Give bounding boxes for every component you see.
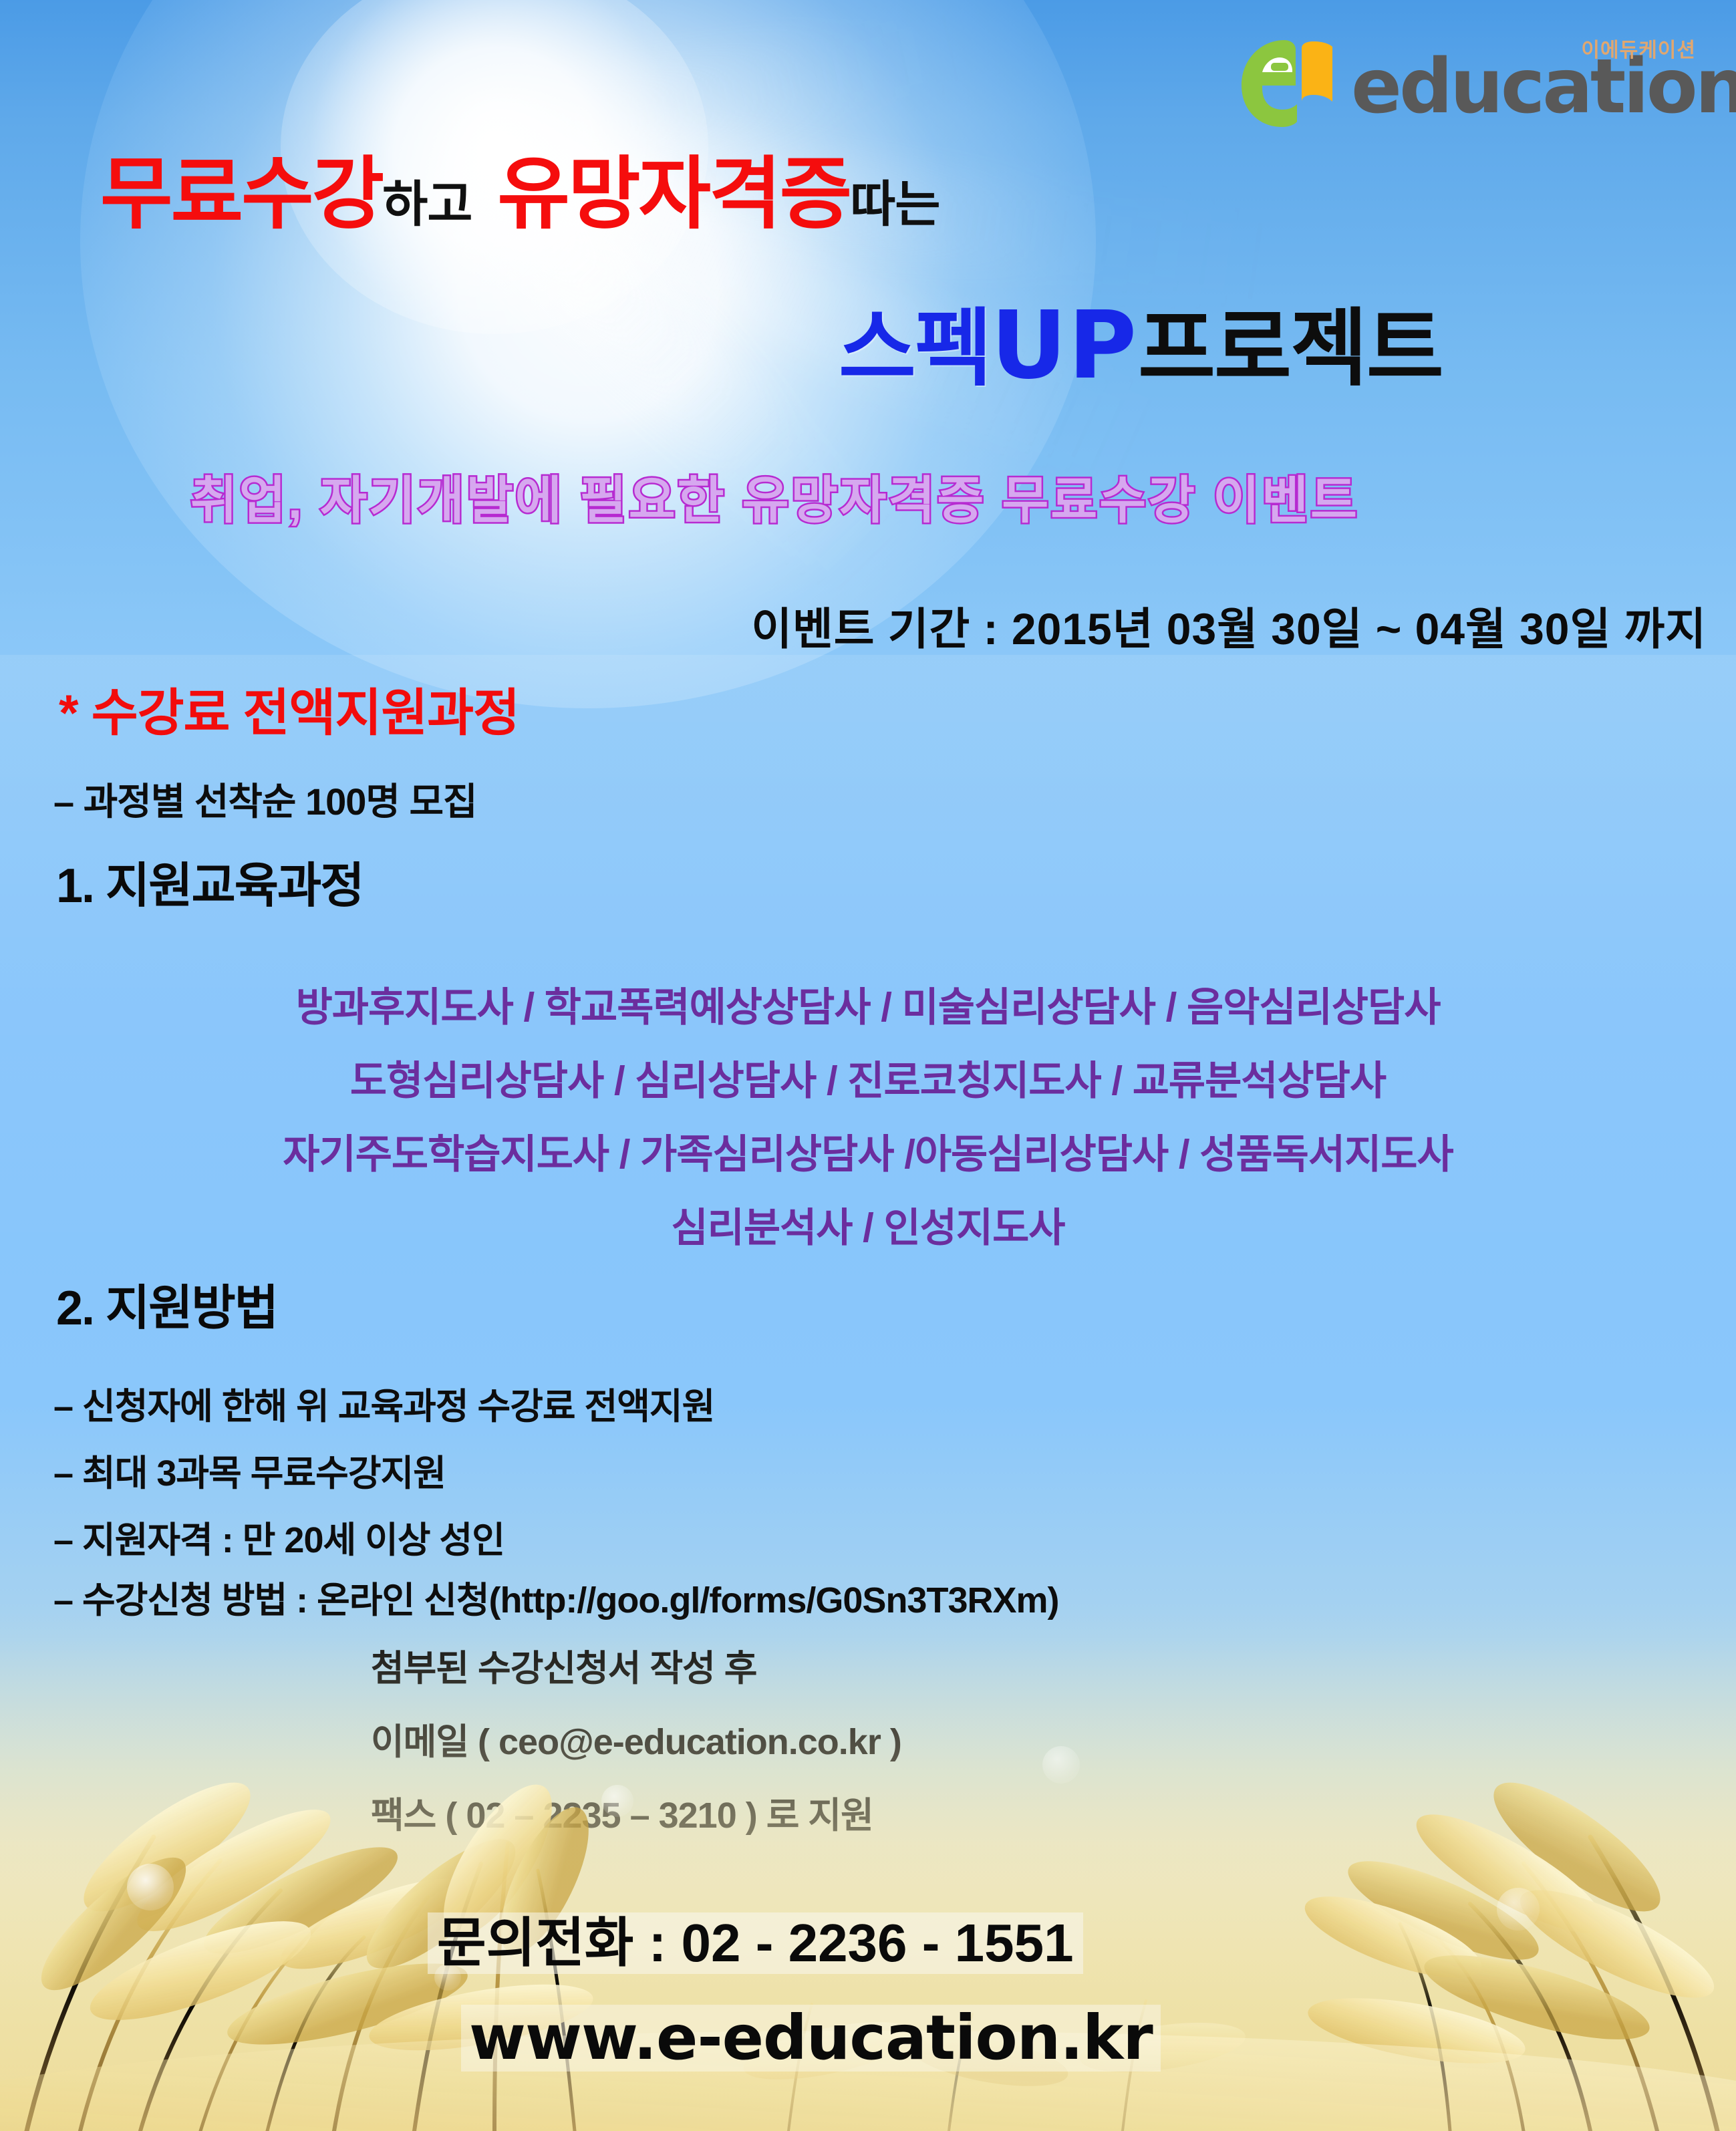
headline-particle-1: 하고 [382, 176, 472, 232]
course-list-line: 자기주도학습지도사 / 가족심리상담사 /아동심리상담사 / 성품독서지도사 [0, 1135, 1736, 1175]
poster-canvas: education 이에듀케이션 무료수강하고유망자격증따는 스펙UP프로젝트 … [0, 0, 1736, 2131]
course-list-line: 도형심리상담사 / 심리상담사 / 진로코칭지도사 / 교류분석상담사 [0, 1061, 1736, 1101]
bokeh-decoration [1497, 1888, 1540, 1931]
headline-spec: 스펙 [839, 301, 991, 396]
application-url-bullet[interactable]: – 수강신청 방법 : 온라인 신청(http://goo.gl/forms/G… [53, 1582, 1059, 1618]
headline-up: UP [991, 291, 1138, 400]
application-bullet: – 최대 3과목 무료수강지원 [53, 1455, 446, 1491]
contact-website[interactable]: www.e-education.kr [461, 2005, 1161, 2072]
brand-logo: education 이에듀케이션 [1232, 32, 1700, 132]
contact-phone: 문의전화 : 02 - 2236 - 1551 [428, 1912, 1083, 1974]
application-bullet: – 지원자격 : 만 20세 이상 성인 [53, 1522, 504, 1558]
headline-certification: 유망자격증 [497, 150, 850, 239]
course-list-line: 심리분석사 / 인성지도사 [0, 1208, 1736, 1248]
application-fax-line: 팩스 ( 02 – 2235 – 3210 ) 로 지원 [371, 1798, 873, 1834]
bokeh-decoration [127, 1864, 174, 1910]
bokeh-decoration [1042, 1746, 1080, 1784]
capacity-note: – 과정별 선착순 100명 모집 [53, 783, 477, 821]
application-email-line[interactable]: 이메일 ( ceo@e-education.co.kr ) [371, 1724, 901, 1760]
headline-particle-2: 따는 [850, 176, 939, 232]
application-bullet: – 신청자에 한해 위 교육과정 수강료 전액지원 [53, 1389, 714, 1425]
section-1-heading: 1. 지원교육과정 [56, 862, 364, 910]
headline-project: 프로젝트 [1138, 301, 1443, 396]
e-book-logo-icon [1232, 37, 1359, 130]
full-support-heading: * 수강료 전액지원과정 [59, 688, 519, 739]
headline-line-2: 스펙UP프로젝트 [839, 299, 1443, 393]
course-list-line: 방과후지도사 / 학교폭력예상상담사 / 미술심리상담사 / 음악심리상담사 [0, 988, 1736, 1028]
headline-free-enroll: 무료수강 [100, 150, 382, 239]
section-2-heading: 2. 지원방법 [56, 1284, 277, 1332]
event-period: 이벤트 기간 : 2015년 03월 30일 ~ 04월 30일 까지 [751, 607, 1707, 651]
logo-korean-name: 이에듀케이션 [1581, 33, 1696, 63]
headline-line-1: 무료수강하고유망자격증따는 [100, 155, 939, 234]
event-subtitle: 취업, 자기개발에 필요한 유망자격증 무료수강 이벤트 [190, 476, 1359, 527]
application-detail-line: 첨부된 수강신청서 작성 후 [371, 1651, 757, 1687]
